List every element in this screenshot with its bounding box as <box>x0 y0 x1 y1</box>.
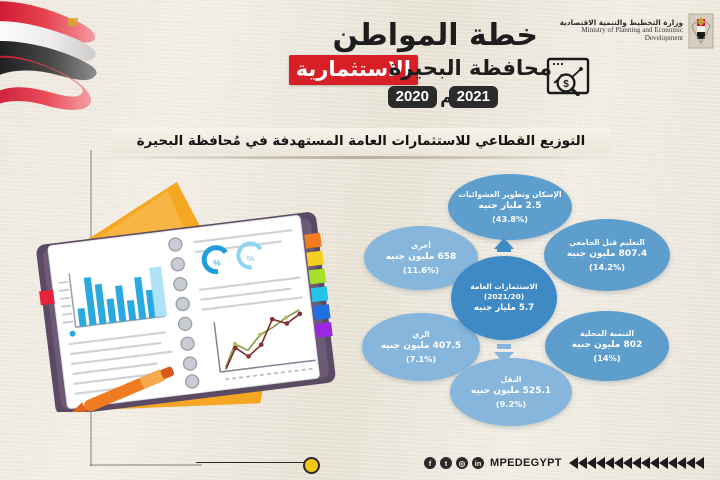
bubble-total-value: 5.7 مليار جنيه <box>474 303 534 314</box>
frame-bottom-line <box>90 464 202 466</box>
infographic-canvas: وزارة التخطيط والتنمية الاقتصادية Minist… <box>0 0 720 480</box>
ministry-name-english-line2: Development <box>560 35 683 43</box>
decorative-dot <box>303 457 320 474</box>
social-footer: f t ◎ in MPEDEGYPT <box>424 452 712 474</box>
bubble-total-period: (2021/20) <box>484 292 524 301</box>
bubble-other-label: أخرى <box>411 241 431 250</box>
bubble-transport-value: 525.1 مليون جنيه <box>471 386 551 397</box>
bubble-local-development[interactable]: التنمية المحلية 802 مليون جنيه (14%) <box>545 311 669 381</box>
page-title: خطة المواطن <box>333 18 539 53</box>
bubble-housing-label: الإسكان وتطوير العشوائيات <box>458 190 561 199</box>
bubble-other-percent: (11.6%) <box>403 265 439 275</box>
egypt-eagle-crest-icon <box>688 12 714 50</box>
bubble-total-label: الاستثمارات العامة <box>470 282 537 291</box>
bubble-local-development-label: التنمية المحلية <box>580 329 634 338</box>
egypt-flag-ribbon-icon <box>0 0 124 114</box>
svg-text:%: % <box>213 258 221 268</box>
bubble-transport-label: النقل <box>501 375 522 384</box>
decorative-line <box>196 462 304 463</box>
instagram-icon[interactable]: ◎ <box>456 457 468 469</box>
bubble-housing[interactable]: الإسكان وتطوير العشوائيات 2.5 مليار جنيه… <box>448 174 572 240</box>
facebook-icon[interactable]: f <box>424 457 436 469</box>
year-chip-2020: 2020 <box>388 86 437 108</box>
chart-magnifier-dollar-icon: $ <box>545 56 591 96</box>
social-handle: MPEDEGYPT <box>490 457 562 469</box>
bubble-other-value: 658 مليون جنيه <box>386 252 457 263</box>
subtitle-divider <box>96 156 624 159</box>
bubble-education-percent: (14.2%) <box>589 262 625 272</box>
bubble-education[interactable]: التعليم قبل الجامعي 807.4 مليون جنيه (14… <box>544 219 670 291</box>
bubble-total-investments[interactable]: الاستثمارات العامة (2021/20) 5.7 مليار ج… <box>451 256 557 340</box>
bubble-education-label: التعليم قبل الجامعي <box>569 238 645 247</box>
title-governorate: محافظة البحيرة <box>389 56 552 80</box>
arrow-up-stem <box>497 247 511 252</box>
bubble-transport[interactable]: النقل 525.1 مليون جنيه (9.2%) <box>450 358 572 426</box>
arrow-down-stem <box>497 344 511 349</box>
twitter-icon[interactable]: t <box>440 457 452 469</box>
linkedin-icon[interactable]: in <box>472 457 484 469</box>
svg-text:%: % <box>247 254 255 264</box>
bubble-transport-percent: (9.2%) <box>496 399 526 409</box>
notebook-with-charts-illustration: % % <box>14 168 350 412</box>
bubble-irrigation-label: الري <box>412 330 429 339</box>
bubble-irrigation-percent: (7.1%) <box>406 354 436 364</box>
bubble-education-value: 807.4 مليون جنيه <box>567 249 647 260</box>
chevron-decoration-icon <box>569 455 705 471</box>
svg-text:$: $ <box>563 79 569 90</box>
bubble-local-development-value: 802 مليون جنيه <box>572 340 643 351</box>
bubble-housing-percent: (43.8%) <box>492 214 528 224</box>
bubble-irrigation-value: 407.5 مليون جنيه <box>381 341 461 352</box>
year-chip-2021: 2021 <box>449 86 498 108</box>
bubble-local-development-percent: (14%) <box>593 353 620 363</box>
arrow-down-icon <box>494 352 514 363</box>
bubble-housing-value: 2.5 مليار جنيه <box>479 201 542 212</box>
section-subtitle: التوزيع القطاعي للاستثمارات العامة المست… <box>112 128 610 154</box>
